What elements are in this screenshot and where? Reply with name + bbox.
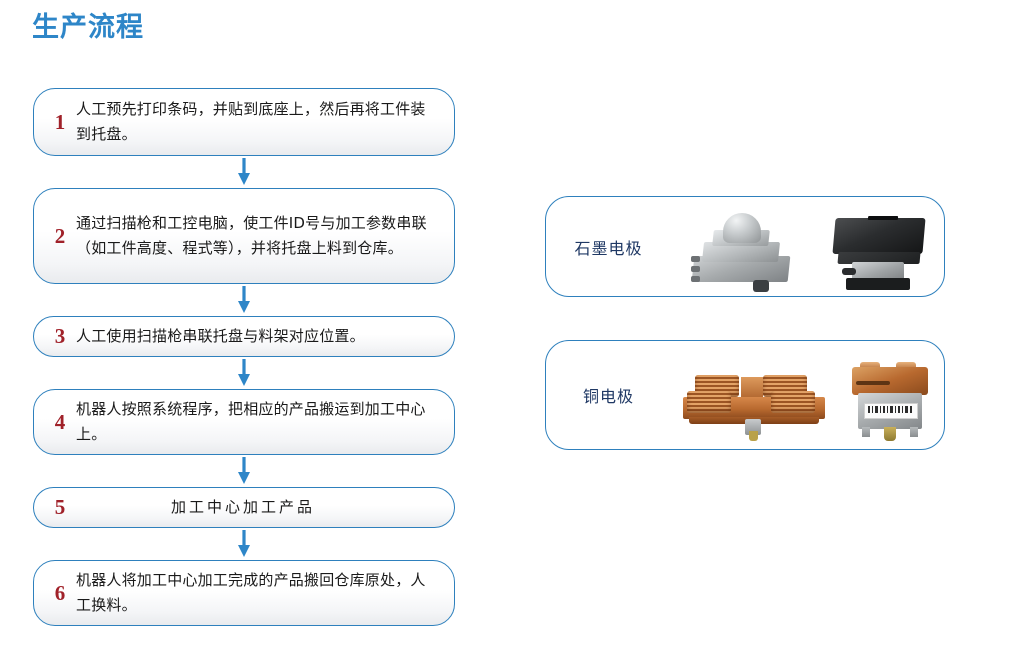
step-text: 机器人将加工中心加工完成的产品搬回仓库原处，人工换料。 [76, 568, 440, 618]
flow-step-3[interactable]: 3 人工使用扫描枪串联托盘与料架对应位置。 [33, 316, 455, 357]
step-number: 6 [44, 583, 76, 604]
copper-electrode-panel[interactable]: 铜电极 [545, 340, 945, 450]
copper-electrode-photo-1 [679, 361, 829, 445]
step-text: 机器人按照系统程序，把相应的产品搬运到加工中心上。 [76, 397, 440, 447]
copper-electrode-figures [671, 341, 944, 449]
step-number: 1 [44, 112, 76, 133]
graphite-electrode-label: 石墨电极 [546, 235, 671, 259]
copper-electrode-label: 铜电极 [546, 383, 671, 407]
flow-step-4[interactable]: 4 机器人按照系统程序，把相应的产品搬运到加工中心上。 [33, 389, 455, 455]
flow-connector-1 [33, 156, 455, 188]
step-number: 4 [44, 412, 76, 433]
arrow-down-icon [234, 359, 254, 387]
flow-connector-4 [33, 455, 455, 487]
step-text: 人工使用扫描枪串联托盘与料架对应位置。 [76, 324, 440, 349]
flow-step-5[interactable]: 5 加工中心加工产品 [33, 487, 455, 528]
step-number: 3 [44, 326, 76, 347]
arrow-down-icon [234, 530, 254, 558]
copper-electrode-photo-2 [844, 361, 936, 445]
flow-step-1[interactable]: 1 人工预先打印条码，并贴到底座上，然后再将工件装到托盘。 [33, 88, 455, 156]
step-number: 5 [44, 497, 76, 518]
graphite-electrode-panel[interactable]: 石墨电极 [545, 196, 945, 297]
flow-connector-5 [33, 528, 455, 560]
step-text: 加工中心加工产品 [76, 495, 440, 520]
flow-connector-3 [33, 357, 455, 389]
arrow-down-icon [234, 158, 254, 186]
flow-step-6[interactable]: 6 机器人将加工中心加工完成的产品搬回仓库原处，人工换料。 [33, 560, 455, 626]
page-title: 生产流程 [32, 14, 144, 41]
production-flow-diagram: 1 人工预先打印条码，并贴到底座上，然后再将工件装到托盘。 2 通过扫描枪和工控… [33, 88, 455, 626]
graphite-electrode-photo-1 [687, 212, 795, 292]
flow-step-2[interactable]: 2 通过扫描枪和工控电脑，使工件ID号与加工参数串联（如工件高度、程式等），并将… [33, 188, 455, 284]
flow-connector-2 [33, 284, 455, 316]
graphite-electrode-photo-2 [828, 212, 928, 292]
barcode-icon [864, 403, 918, 419]
graphite-electrode-figures [671, 197, 944, 296]
arrow-down-icon [234, 457, 254, 485]
arrow-down-icon [234, 286, 254, 314]
step-text: 人工预先打印条码，并贴到底座上，然后再将工件装到托盘。 [76, 97, 440, 147]
step-number: 2 [44, 226, 76, 247]
step-text: 通过扫描枪和工控电脑，使工件ID号与加工参数串联（如工件高度、程式等），并将托盘… [76, 211, 440, 261]
